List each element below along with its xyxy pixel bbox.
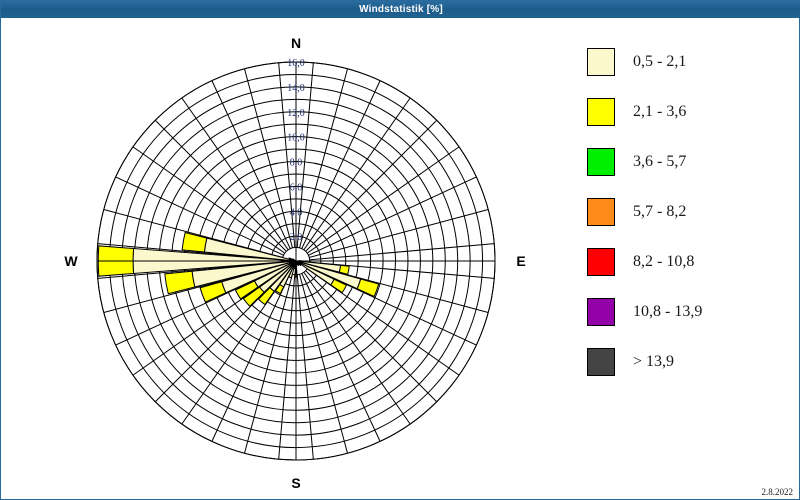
legend-item[interactable]: 5,7 - 8,2 (587, 187, 787, 237)
legend-label: 8,2 - 10,8 (633, 253, 694, 271)
legend-swatch-icon (587, 48, 615, 76)
legend-item[interactable]: 2,1 - 3,6 (587, 87, 787, 137)
legend-label: 2,1 - 3,6 (633, 103, 686, 121)
compass-label-east: E (516, 253, 525, 269)
radial-tick-label: 14,0 (287, 83, 305, 94)
grid-spoke (244, 69, 296, 261)
radial-tick-label: 4,0 (290, 207, 303, 218)
legend-label: 3,6 - 5,7 (633, 153, 686, 171)
wind-rose-petal (182, 233, 207, 252)
radial-tick-label: 16,0 (287, 58, 305, 69)
legend-item[interactable]: 8,2 - 10,8 (587, 237, 787, 287)
wind-rose-petal (357, 279, 378, 296)
legend-item[interactable]: > 13,9 (587, 337, 787, 387)
radial-tick-label: 8,0 (290, 158, 303, 169)
radial-tick-label: 10,0 (287, 133, 305, 144)
legend-swatch-icon (587, 198, 615, 226)
radial-tick-label: 2,0 (290, 232, 303, 243)
compass-label-south: S (291, 475, 300, 491)
legend-swatch-icon (587, 348, 615, 376)
legend-label: 0,5 - 2,1 (633, 53, 686, 71)
legend-label: 10,8 - 13,9 (633, 303, 702, 321)
compass-label-north: N (291, 35, 301, 51)
windstatistik-window: Windstatistik [%] 2,04,06,08,010,012,014… (0, 0, 800, 500)
legend-swatch-icon (587, 148, 615, 176)
legend-swatch-icon (587, 298, 615, 326)
legend-item[interactable]: 0,5 - 2,1 (587, 37, 787, 87)
legend-swatch-icon (587, 248, 615, 276)
grid-spoke (296, 69, 348, 261)
legend: 0,5 - 2,12,1 - 3,63,6 - 5,75,7 - 8,28,2 … (587, 37, 787, 387)
window-title: Windstatistik [%] (359, 4, 443, 15)
wind-rose-petal (165, 271, 195, 294)
compass-label-west: W (64, 253, 78, 269)
date-stamp: 2.8.2022 (762, 487, 794, 497)
window-titlebar: Windstatistik [%] (1, 1, 800, 18)
radial-tick-label: 12,0 (287, 108, 305, 119)
radial-tick-label: 6,0 (290, 182, 303, 193)
grid-spoke (155, 120, 296, 261)
legend-item[interactable]: 3,6 - 5,7 (587, 137, 787, 187)
wind-rose-petal (339, 265, 349, 274)
grid-spoke (296, 120, 437, 261)
legend-label: > 13,9 (633, 353, 674, 371)
legend-label: 5,7 - 8,2 (633, 203, 686, 221)
grid-spoke (296, 209, 488, 261)
legend-item[interactable]: 10,8 - 13,9 (587, 287, 787, 337)
legend-swatch-icon (587, 98, 615, 126)
